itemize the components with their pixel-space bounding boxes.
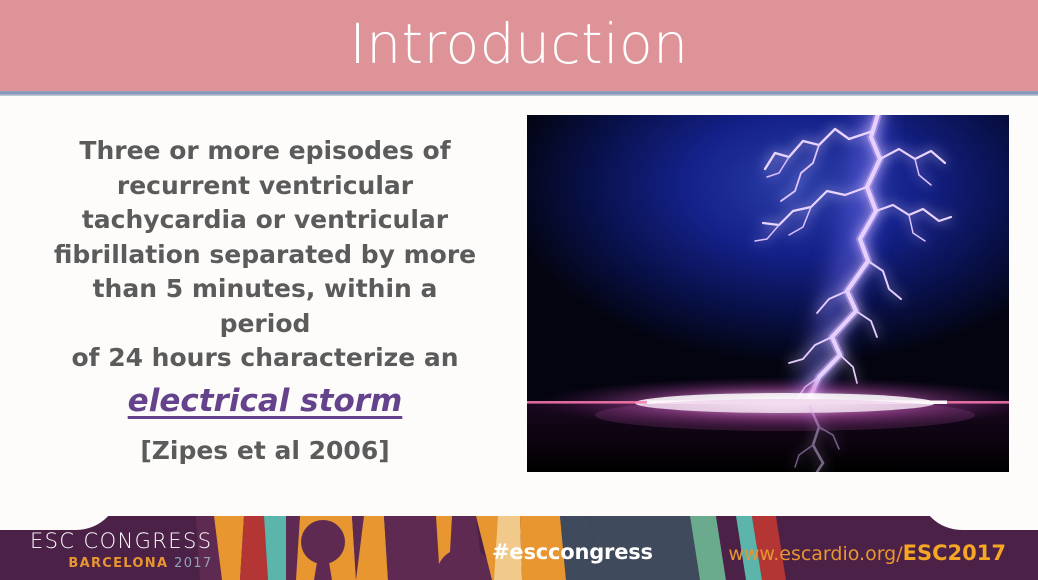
definition-line-1: recurrent ventricular	[117, 171, 413, 200]
website-url-event: ESC2017	[903, 541, 1006, 565]
citation-text: [Zipes et al 2006]	[48, 436, 482, 465]
logo-main-text: ESC CONGRESS	[30, 530, 212, 553]
definition-text: Three or more episodes of recurrent vent…	[48, 134, 482, 420]
logo-city-text: BARCELONA	[68, 556, 168, 571]
slide-content-card: Three or more episodes of recurrent vent…	[0, 96, 1038, 516]
website-url[interactable]: www.escardio.org/ESC2017	[728, 541, 1006, 565]
emphasis-line: electrical storm	[48, 384, 482, 421]
lightning-storm-photo	[527, 115, 1009, 472]
definition-line-4: than 5 minutes, within a period	[93, 274, 438, 338]
definition-line-5: of 24 hours characterize an	[71, 343, 458, 372]
slide-header: Introduction	[0, 0, 1038, 91]
definition-line-0: Three or more episodes of	[79, 136, 450, 165]
esc-congress-logo: ESC CONGRESS BARCELONA 2017	[30, 530, 212, 571]
emphasized-term: electrical storm	[128, 383, 403, 419]
lightning-illustration	[527, 115, 1009, 472]
hashtag-text: #esccongress	[492, 540, 653, 564]
logo-sub-text: BARCELONA 2017	[30, 556, 212, 571]
website-url-base: www.escardio.org/	[728, 543, 902, 565]
presentation-slide: Introduction Three or more episodes of r…	[0, 0, 1038, 580]
definition-line-3: fibrillation separated by more	[54, 240, 476, 269]
page-title: Introduction	[0, 11, 1038, 77]
logo-year-text: 2017	[174, 556, 212, 571]
definition-line-2: tachycardia or ventricular	[82, 205, 448, 234]
